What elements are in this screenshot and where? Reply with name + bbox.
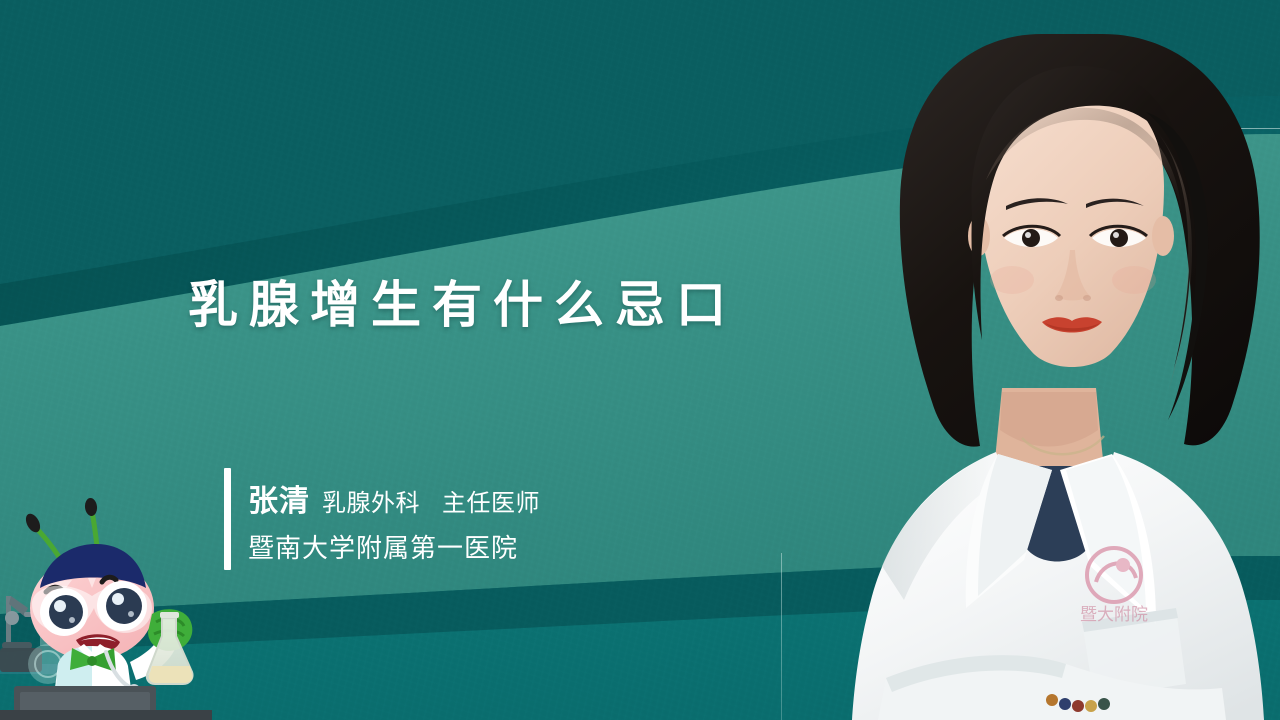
doctor-hospital: 暨南大学附属第一医院 <box>248 528 540 565</box>
svg-text:暨大附院: 暨大附院 <box>1080 605 1148 624</box>
mascot-desk <box>0 686 212 720</box>
credit-text-lines: 张清 乳腺外科 主任医师 暨南大学附属第一医院 <box>248 468 540 570</box>
credit-primary-line: 张清 乳腺外科 主任医师 <box>248 476 540 520</box>
slide-canvas: 乳腺增生有什么忌口 张清 乳腺外科 主任医师 暨南大学附属第一医院 <box>0 0 1280 720</box>
doctor-department: 乳腺外科 <box>322 483 420 518</box>
doctor-portrait: 暨大附院 <box>846 0 1280 720</box>
mascot-scientist <box>0 496 212 720</box>
doctor-rank: 主任医师 <box>442 483 540 518</box>
portrait-ear-right <box>1152 216 1174 256</box>
doctor-credit-block: 张清 乳腺外科 主任医师 暨南大学附属第一医院 <box>224 468 540 570</box>
accent-bar <box>224 468 231 570</box>
doctor-name: 张清 <box>248 476 310 520</box>
mascot-eye-right <box>97 581 147 631</box>
hairline-bottom-center <box>781 553 782 720</box>
mascot-eye-left <box>40 588 88 636</box>
page-title: 乳腺增生有什么忌口 <box>188 277 737 333</box>
